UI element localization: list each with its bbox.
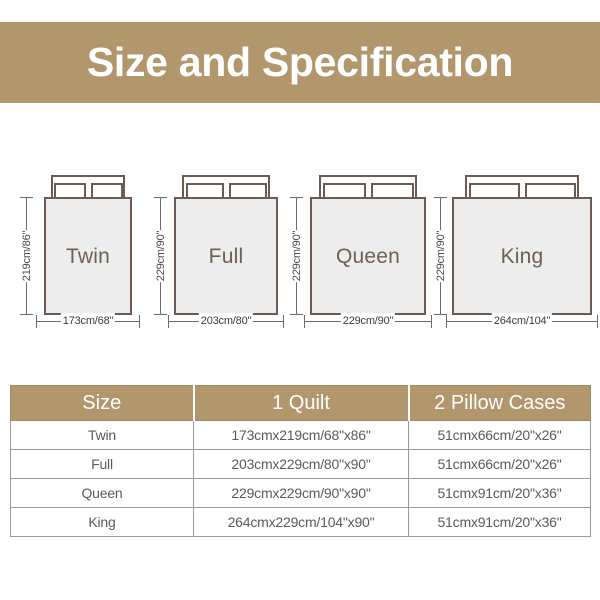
table-row: Queen 229cmx229cm/90"x90" 51cmx91cm/20"x… (11, 479, 591, 508)
width-label-twin: 173cm/68" (61, 313, 115, 329)
header-banner: Size and Specification (0, 22, 600, 103)
page-title: Size and Specification (87, 42, 513, 83)
dimension-cap-top (434, 197, 447, 198)
table-body: Twin 173cmx219cm/68"x86" 51cmx66cm/20"x2… (11, 421, 591, 537)
height-label-full: 229cm/90" (155, 230, 167, 282)
cell-size: King (11, 508, 194, 537)
dimension-cap-bottom (20, 314, 33, 315)
width-dimension-full: 203cm/80" (168, 313, 284, 329)
cell-pillow-cases: 51cmx91cm/20"x36" (409, 479, 591, 508)
table-row: Twin 173cmx219cm/68"x86" 51cmx66cm/20"x2… (11, 421, 591, 450)
height-dimension-twin: 219cm/86" (16, 197, 38, 315)
width-label-full: 203cm/80" (199, 313, 253, 329)
cell-quilt: 173cmx219cm/68"x86" (194, 421, 409, 450)
width-dimension-queen: 229cm/90" (304, 313, 432, 329)
width-label-queen: 229cm/90" (341, 313, 395, 329)
dimension-cap-left (168, 315, 169, 328)
dimension-cap-right (139, 315, 140, 328)
dimension-cap-left (304, 315, 305, 328)
bed-diagram-twin: 219cm/86" Twin 173cm/68" (8, 165, 150, 340)
dimension-cap-top (20, 197, 33, 198)
table-header-row: Size 1 Quilt 2 Pillow Cases (11, 386, 591, 421)
height-label-queen: 229cm/90" (291, 230, 303, 282)
dimension-cap-right (283, 315, 284, 328)
bed-diagrams-section: 219cm/86" Twin 173cm/68" (0, 165, 600, 340)
dimension-cap-bottom (154, 314, 167, 315)
width-dimension-king: 264cm/104" (446, 313, 598, 329)
dimension-cap-bottom (290, 314, 303, 315)
dimension-cap-left (446, 315, 447, 328)
cell-size: Twin (11, 421, 194, 450)
mattress-full: Full (174, 197, 278, 315)
bed-label-full: Full (209, 246, 244, 267)
mattress-queen: Queen (310, 197, 426, 315)
bed-diagram-full: 229cm/90" Full 203cm/80" (146, 165, 294, 340)
specification-table: Size 1 Quilt 2 Pillow Cases Twin 173cmx2… (10, 385, 591, 537)
cell-size: Queen (11, 479, 194, 508)
width-label-king: 264cm/104" (492, 313, 552, 329)
cell-quilt: 264cmx229cm/104"x90" (194, 508, 409, 537)
table-header: Size 1 Quilt 2 Pillow Cases (11, 386, 591, 421)
bed-diagram-queen: 229cm/90" Queen 229cm/90" (286, 165, 446, 340)
cell-size: Full (11, 450, 194, 479)
height-label-king: 229cm/90" (435, 230, 447, 282)
dimension-cap-left (36, 315, 37, 328)
bed-label-twin: Twin (66, 246, 110, 267)
mattress-king: King (452, 197, 592, 315)
column-header-quilt: 1 Quilt (194, 386, 409, 421)
cell-pillow-cases: 51cmx66cm/20"x26" (409, 421, 591, 450)
height-label-twin: 219cm/86" (21, 230, 33, 282)
bed-diagram-king: 229cm/90" King 264cm/104" (430, 165, 600, 340)
bed-label-queen: Queen (336, 246, 400, 267)
cell-quilt: 203cmx229cm/80"x90" (194, 450, 409, 479)
column-header-pillow-cases: 2 Pillow Cases (409, 386, 591, 421)
height-dimension-full: 229cm/90" (150, 197, 172, 315)
size-specification-page: Size and Specification 219cm/86" Twin (0, 0, 600, 600)
bed-label-king: King (501, 246, 544, 267)
dimension-cap-right (597, 315, 598, 328)
column-header-size: Size (11, 386, 194, 421)
cell-pillow-cases: 51cmx66cm/20"x26" (409, 450, 591, 479)
table-row: Full 203cmx229cm/80"x90" 51cmx66cm/20"x2… (11, 450, 591, 479)
dimension-cap-top (154, 197, 167, 198)
height-dimension-queen: 229cm/90" (286, 197, 308, 315)
cell-quilt: 229cmx229cm/90"x90" (194, 479, 409, 508)
mattress-twin: Twin (44, 197, 132, 315)
cell-pillow-cases: 51cmx91cm/20"x36" (409, 508, 591, 537)
table-row: King 264cmx229cm/104"x90" 51cmx91cm/20"x… (11, 508, 591, 537)
height-dimension-king: 229cm/90" (430, 197, 452, 315)
dimension-cap-top (290, 197, 303, 198)
width-dimension-twin: 173cm/68" (36, 313, 140, 329)
